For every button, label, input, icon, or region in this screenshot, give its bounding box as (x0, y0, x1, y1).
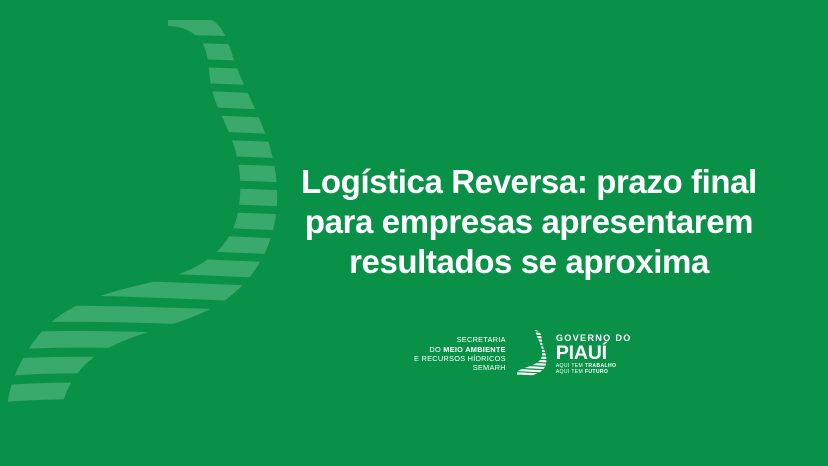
headline-line-1: Logística Reversa: prazo final (268, 162, 790, 202)
semarh-line-2: DO MEIO AMBIENTE (414, 345, 506, 354)
slogan-1-strong: TRABALHO (585, 363, 616, 369)
slogan-2-plain: AQUI TEM (556, 369, 585, 375)
semarh-line-1: SECRETARIA (414, 335, 506, 344)
slogan-1-plain: AQUI TEM (556, 363, 585, 369)
governo-do-piaui-wordmark: GOVERNO DO PIAUÍ AQUI TEM TRABALHO AQUI … (549, 333, 632, 376)
headline: Logística Reversa: prazo final para empr… (268, 162, 790, 282)
piaui-map-logo-icon (515, 329, 549, 379)
wordmark-title: PIAUÍ (556, 343, 632, 363)
headline-line-3: resultados se aproxima (268, 242, 790, 282)
semarh-line-4: SEMARH (414, 363, 506, 372)
banner-canvas: Logística Reversa: prazo final para empr… (0, 0, 828, 466)
semarh-text-block: SECRETARIA DO MEIO AMBIENTE E RECURSOS H… (414, 335, 515, 373)
logo-lockup: SECRETARIA DO MEIO AMBIENTE E RECURSOS H… (414, 327, 626, 381)
slogan-2-strong: FUTURO (585, 369, 608, 375)
semarh-line-2-prefix: DO (429, 345, 443, 354)
headline-line-2: para empresas apresentarem (268, 202, 790, 242)
semarh-line-3: E RECURSOS HÍDRICOS (414, 354, 506, 363)
wordmark-slogan-line-2: AQUI TEM FUTURO (556, 369, 632, 375)
semarh-line-2-strong: MEIO AMBIENTE (443, 345, 506, 354)
piaui-state-map-stripes-icon (0, 18, 300, 408)
